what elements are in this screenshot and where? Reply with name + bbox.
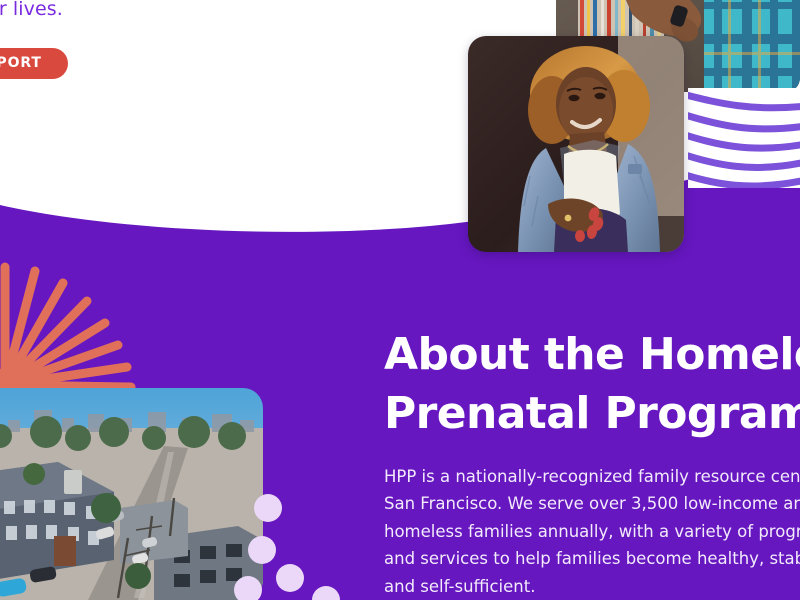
dot: [234, 576, 262, 600]
about-section: About the Homeless Prenatal Program HPP …: [384, 326, 800, 600]
photo-city-aerial: [0, 388, 263, 600]
about-body-text: HPP is a nationally-recognized family re…: [384, 463, 800, 600]
purple-curved-stripes-decoration: [688, 88, 800, 188]
dot: [248, 536, 276, 564]
page-title-line-1: About the Homeless: [384, 329, 800, 380]
page-stage: their lives. SUPPORT: [0, 0, 800, 600]
dot: [312, 586, 340, 600]
photo-expectant-mother: [468, 36, 684, 252]
hero-tagline: their lives.: [0, 0, 63, 20]
dot: [276, 564, 304, 592]
support-button[interactable]: SUPPORT: [0, 48, 68, 79]
page-title: About the Homeless Prenatal Program: [384, 326, 800, 443]
dot: [254, 494, 282, 522]
page-title-line-2: Prenatal Program: [384, 388, 800, 439]
lavender-dot-cluster: [240, 478, 350, 600]
